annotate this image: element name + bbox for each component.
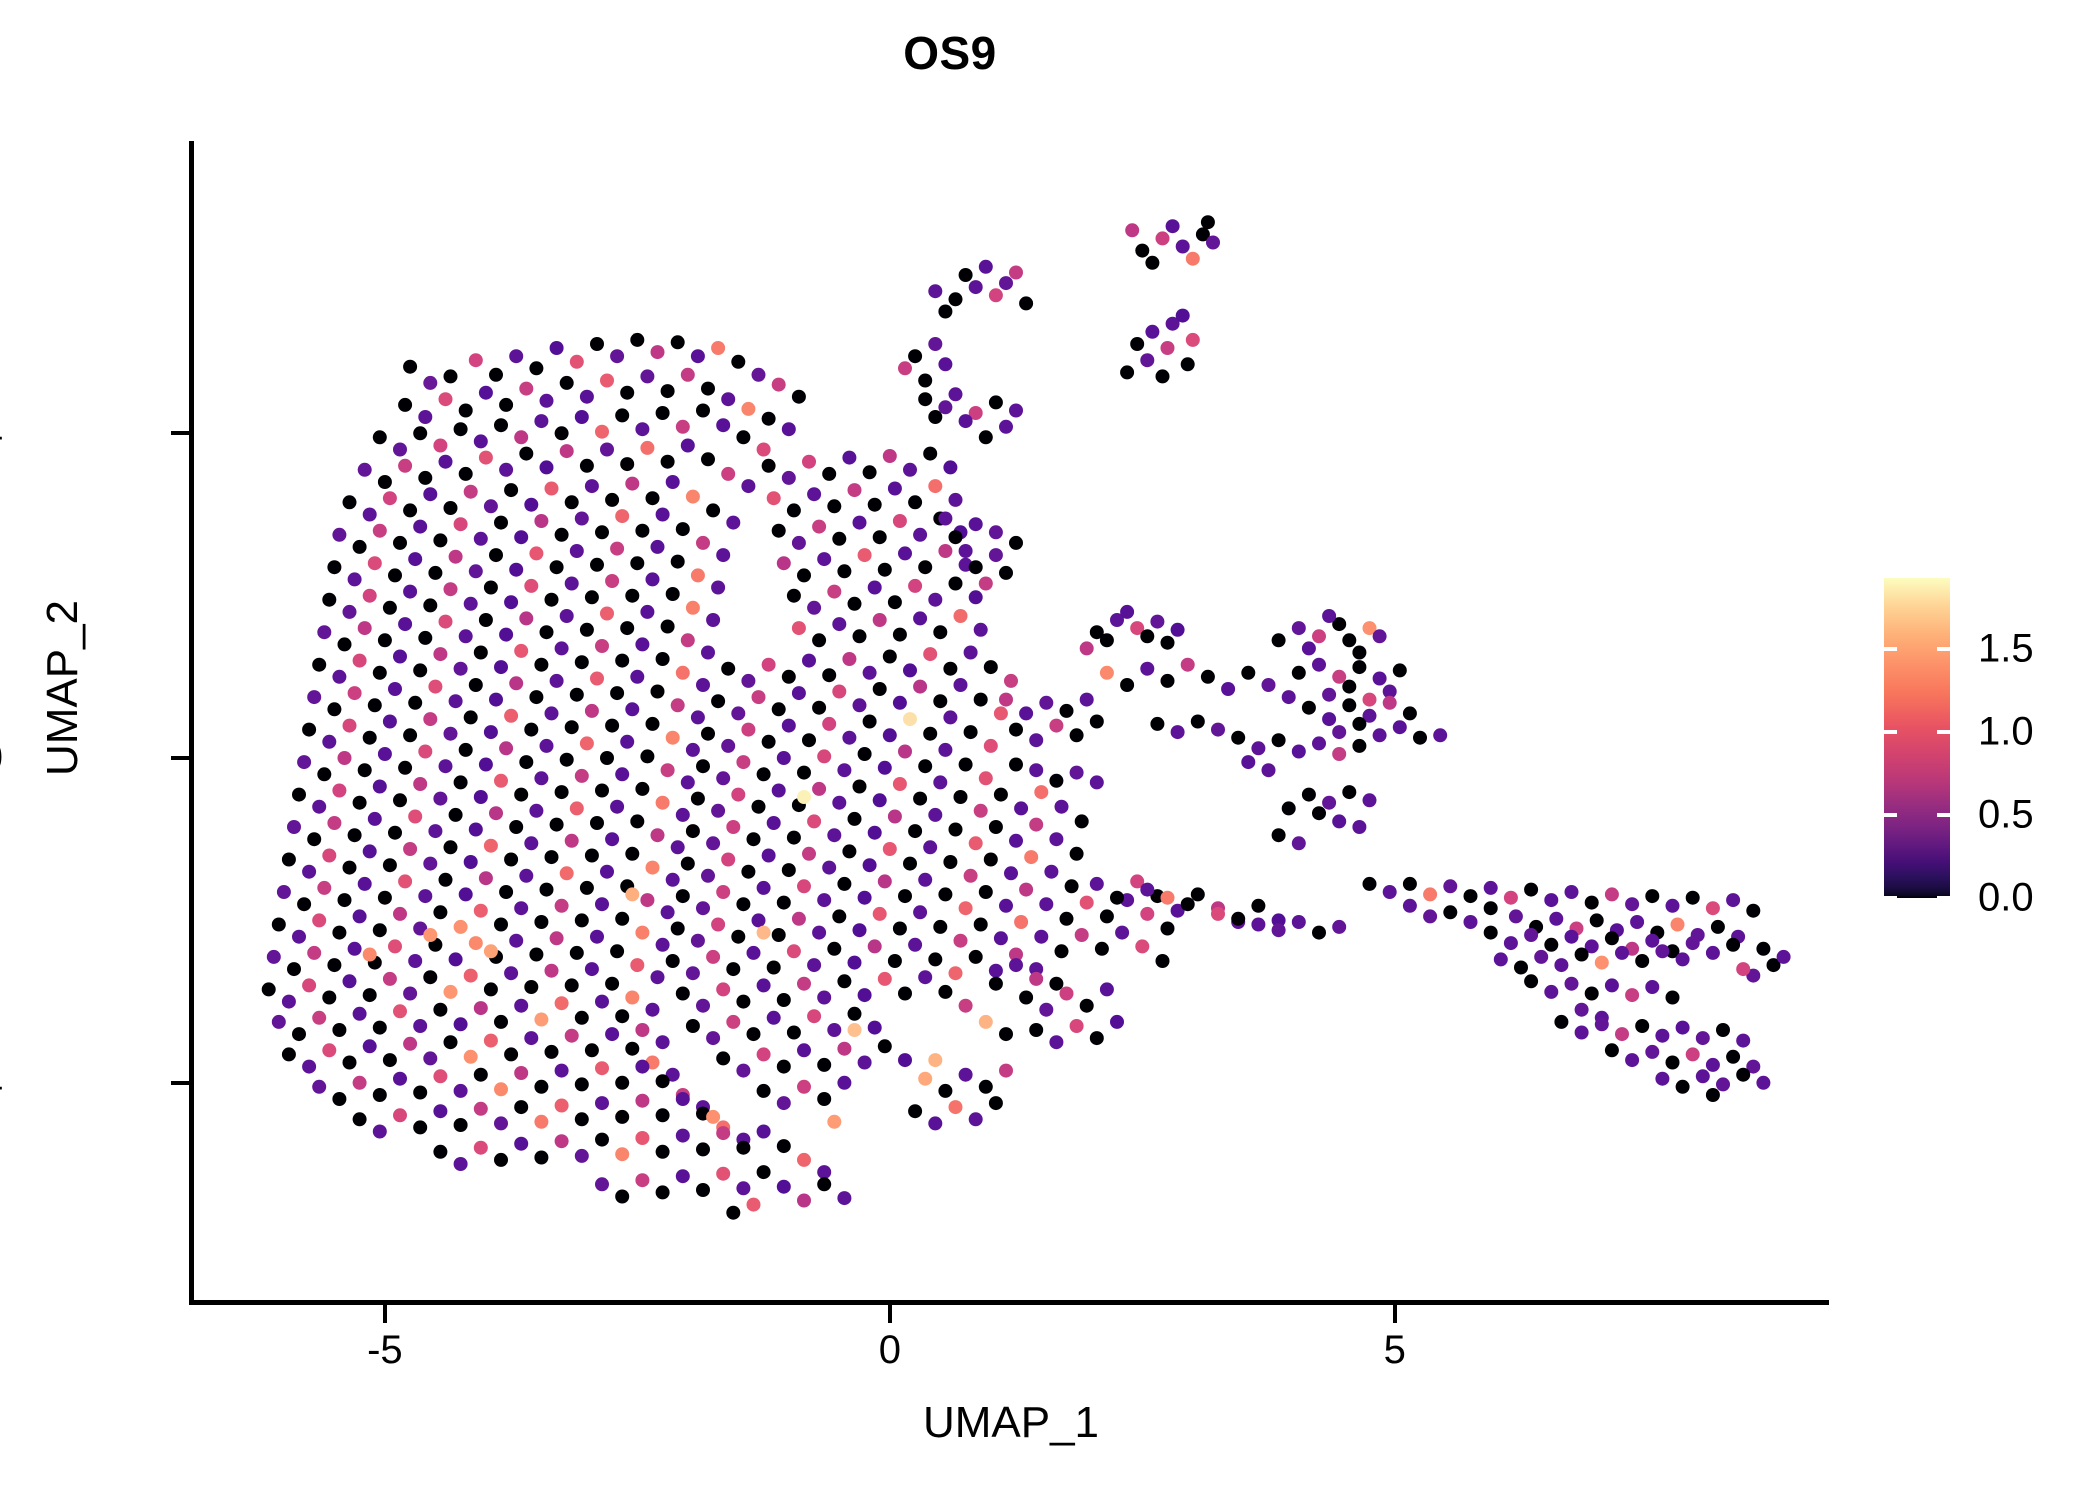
scatter-point — [656, 508, 670, 522]
scatter-point — [1514, 961, 1528, 975]
scatter-point — [464, 1050, 478, 1064]
scatter-point — [1039, 1003, 1053, 1017]
scatter-point — [1352, 739, 1366, 753]
scatter-point — [1009, 723, 1023, 737]
scatter-point — [1039, 696, 1053, 710]
scatter-point — [837, 1042, 851, 1056]
scatter-point — [560, 444, 574, 458]
scatter-point — [363, 844, 377, 858]
scatter-point — [297, 897, 311, 911]
scatter-point — [545, 706, 559, 720]
scatter-point — [1696, 1069, 1710, 1083]
scatter-point — [459, 743, 473, 757]
scatter-point — [514, 901, 528, 915]
scatter-point — [262, 982, 276, 996]
scatter-point — [711, 341, 725, 355]
scatter-point — [656, 938, 670, 952]
scatter-point — [772, 702, 786, 716]
scatter-point — [772, 524, 786, 538]
scatter-point — [827, 1023, 841, 1037]
scatter-point — [1140, 662, 1154, 676]
scatter-point — [1625, 1053, 1639, 1067]
scatter-point — [1363, 793, 1377, 807]
scatter-point — [747, 1027, 761, 1041]
scatter-point — [1494, 952, 1508, 966]
scatter-point — [777, 1180, 791, 1194]
scatter-point — [1524, 928, 1538, 942]
scatter-point — [878, 972, 892, 986]
scatter-point — [635, 637, 649, 651]
x-tick-label: 5 — [1384, 1328, 1406, 1373]
scatter-point — [595, 1177, 609, 1191]
scatter-point — [979, 260, 993, 274]
scatter-point — [484, 725, 498, 739]
scatter-point — [625, 589, 639, 603]
scatter-point — [433, 1104, 447, 1118]
scatter-point — [994, 788, 1008, 802]
scatter-point — [322, 1043, 336, 1057]
scatter-point — [1363, 877, 1377, 891]
y-tick-mark — [171, 431, 189, 435]
scatter-point — [1135, 244, 1149, 258]
scatter-point — [721, 739, 735, 753]
scatter-point — [317, 881, 331, 895]
y-tick-label: 4 — [0, 411, 3, 456]
scatter-point — [741, 479, 755, 493]
scatter-point — [1166, 219, 1180, 233]
scatter-point — [388, 939, 402, 953]
scatter-point — [928, 479, 942, 493]
scatter-point — [979, 430, 993, 444]
scatter-point — [969, 560, 983, 574]
scatter-point — [302, 723, 316, 737]
scatter-point — [848, 483, 862, 497]
scatter-point — [969, 590, 983, 604]
scatter-point — [706, 950, 720, 964]
scatter-point — [1312, 658, 1326, 672]
scatter-point — [721, 853, 735, 867]
scatter-point — [413, 777, 427, 791]
scatter-point — [272, 1015, 286, 1029]
scatter-point — [534, 414, 548, 428]
scatter-point — [701, 727, 715, 741]
scatter-point — [524, 1031, 538, 1045]
scatter-point — [1332, 814, 1346, 828]
scatter-point — [343, 605, 357, 619]
scatter-point — [555, 1099, 569, 1113]
scatter-point — [1443, 879, 1457, 893]
scatter-point — [721, 392, 735, 406]
scatter-point — [555, 1134, 569, 1148]
scatter-point — [1342, 680, 1356, 694]
scatter-point — [605, 719, 619, 733]
scatter-point — [1332, 920, 1346, 934]
scatter-point — [908, 1104, 922, 1118]
scatter-point — [928, 410, 942, 424]
scatter-point — [792, 686, 806, 700]
scatter-point — [348, 828, 362, 842]
scatter-point — [605, 493, 619, 507]
scatter-point — [938, 887, 952, 901]
scatter-point — [363, 948, 377, 962]
scatter-point — [979, 1015, 993, 1029]
scatter-point — [433, 439, 447, 453]
scatter-point — [959, 999, 973, 1013]
scatter-point — [1272, 633, 1286, 647]
scatter-point — [474, 904, 488, 918]
scatter-point — [509, 820, 523, 834]
colorbar-tick-label: 1.0 — [1978, 710, 2034, 755]
scatter-point — [1211, 723, 1225, 737]
scatter-point — [671, 922, 685, 936]
scatter-point — [615, 1076, 629, 1090]
scatter-point — [903, 857, 917, 871]
scatter-point — [353, 909, 367, 923]
scatter-point — [868, 581, 882, 595]
scatter-point — [343, 495, 357, 509]
scatter-point — [580, 390, 594, 404]
scatter-point — [989, 820, 1003, 834]
scatter-point — [959, 268, 973, 282]
scatter-point — [514, 1100, 528, 1114]
scatter-point — [807, 814, 821, 828]
scatter-point — [1090, 1031, 1104, 1045]
scatter-point — [464, 969, 478, 983]
colorbar-tick-label: 0.0 — [1978, 876, 2034, 921]
scatter-point — [398, 874, 412, 888]
scatter-point — [322, 991, 336, 1005]
scatter-point — [827, 828, 841, 842]
scatter-point — [1706, 1058, 1720, 1072]
scatter-point — [837, 974, 851, 988]
scatter-point — [827, 1115, 841, 1129]
scatter-point — [1009, 758, 1023, 772]
scatter-point — [575, 1011, 589, 1025]
scatter-point — [560, 753, 574, 767]
scatter-point — [938, 305, 952, 319]
scatter-point — [1231, 912, 1245, 926]
scatter-point — [1241, 666, 1255, 680]
scatter-point — [731, 788, 745, 802]
scatter-point — [1100, 909, 1114, 923]
scatter-point — [1373, 672, 1387, 686]
scatter-point — [534, 1013, 548, 1027]
scatter-point — [787, 503, 801, 517]
scatter-point — [898, 889, 912, 903]
scatter-point — [1666, 899, 1680, 913]
scatter-point — [373, 430, 387, 444]
scatter-point — [545, 1045, 559, 1059]
scatter-point — [439, 615, 453, 629]
scatter-point — [519, 447, 533, 461]
scatter-point — [1292, 836, 1306, 850]
scatter-point — [817, 1177, 831, 1191]
scatter-point — [943, 662, 957, 676]
scatter-point — [534, 915, 548, 929]
scatter-point — [403, 585, 417, 599]
scatter-point — [383, 491, 397, 505]
scatter-point — [555, 426, 569, 440]
scatter-point — [378, 633, 392, 647]
scatter-point — [519, 755, 533, 769]
scatter-point — [938, 1084, 952, 1098]
scatter-point — [595, 995, 609, 1009]
scatter-point — [741, 674, 755, 688]
scatter-point — [1060, 987, 1074, 1001]
scatter-point — [908, 938, 922, 952]
scatter-point — [726, 962, 740, 976]
scatter-point — [565, 834, 579, 848]
scatter-point — [312, 1080, 326, 1094]
scatter-point — [570, 946, 584, 960]
scatter-point — [1090, 877, 1104, 891]
scatter-point — [600, 607, 614, 621]
scatter-point — [439, 759, 453, 773]
scatter-point — [752, 800, 766, 814]
scatter-point — [590, 930, 604, 944]
scatter-point — [777, 556, 791, 570]
scatter-point — [1342, 633, 1356, 647]
scatter-point — [883, 650, 897, 664]
scatter-point — [615, 767, 629, 781]
scatter-point — [671, 555, 685, 569]
scatter-point — [772, 928, 786, 942]
scatter-point — [807, 1009, 821, 1023]
scatter-point — [1120, 365, 1134, 379]
scatter-point — [1777, 950, 1791, 964]
scatter-point — [388, 682, 402, 696]
scatter-point — [555, 528, 569, 542]
scatter-point — [1019, 991, 1033, 1005]
scatter-point — [625, 847, 639, 861]
scatter-point — [605, 977, 619, 991]
scatter-point — [600, 865, 614, 879]
scatter-point — [1484, 901, 1498, 915]
scatter-point — [656, 406, 670, 420]
scatter-point — [1075, 928, 1089, 942]
scatter-point — [439, 392, 453, 406]
scatter-point — [1544, 938, 1558, 952]
scatter-point — [1156, 231, 1170, 245]
scatter-point — [1312, 629, 1326, 643]
scatter-point — [1186, 333, 1200, 347]
scatter-point — [661, 905, 675, 919]
scatter-point — [1595, 956, 1609, 970]
scatter-point — [1029, 1023, 1043, 1037]
scatter-point — [332, 1092, 346, 1106]
scatter-point — [363, 988, 377, 1002]
scatter-point — [1029, 733, 1043, 747]
scatter-point — [1171, 623, 1185, 637]
scatter-point — [287, 962, 301, 976]
scatter-point — [575, 655, 589, 669]
scatter-point — [969, 950, 983, 964]
scatter-point — [933, 625, 947, 639]
scatter-point — [590, 337, 604, 351]
scatter-point — [540, 460, 554, 474]
scatter-point — [1524, 883, 1538, 897]
scatter-point — [1625, 988, 1639, 1002]
scatter-point — [994, 931, 1008, 945]
scatter-point — [353, 540, 367, 554]
scatter-point — [338, 751, 352, 765]
scatter-point — [353, 1076, 367, 1090]
scatter-point — [1464, 915, 1478, 929]
scatter-point — [585, 479, 599, 493]
scatter-point — [686, 1019, 700, 1033]
scatter-point — [1686, 891, 1700, 905]
scatter-point — [1635, 954, 1649, 968]
scatter-point — [863, 465, 877, 479]
scatter-point — [757, 1165, 771, 1179]
scatter-point — [696, 678, 710, 692]
scatter-point — [656, 1108, 670, 1122]
scatter-point — [757, 1047, 771, 1061]
scatter-point — [1135, 939, 1149, 953]
scatter-point — [565, 495, 579, 509]
scatter-point — [504, 966, 518, 980]
scatter-point — [802, 847, 816, 861]
scatter-point — [676, 666, 690, 680]
scatter-point — [656, 652, 670, 666]
scatter-point — [666, 475, 680, 489]
scatter-point — [681, 857, 695, 871]
scatter-point — [721, 662, 735, 676]
scatter-point — [1736, 1034, 1750, 1048]
scatter-point — [908, 579, 922, 593]
scatter-point — [863, 666, 877, 680]
scatter-point — [858, 891, 872, 905]
scatter-point — [403, 503, 417, 517]
scatter-point — [1049, 977, 1063, 991]
scatter-point — [989, 1096, 1003, 1110]
scatter-point — [479, 451, 493, 465]
scatter-point — [504, 595, 518, 609]
scatter-point — [777, 1060, 791, 1074]
scatter-point — [1201, 215, 1215, 229]
scatter-point — [625, 702, 639, 716]
scatter-point — [994, 706, 1008, 720]
scatter-point — [691, 710, 705, 724]
scatter-point — [484, 982, 498, 996]
scatter-point — [348, 572, 362, 586]
scatter-point — [1554, 1015, 1568, 1029]
scatter-point — [736, 995, 750, 1009]
scatter-point — [1049, 719, 1063, 733]
scatter-point — [787, 944, 801, 958]
scatter-point — [989, 548, 1003, 562]
scatter-point — [1019, 706, 1033, 720]
scatter-point — [726, 516, 740, 530]
scatter-point — [969, 517, 983, 531]
scatter-point — [858, 548, 872, 562]
colorbar-tick-mark — [1937, 813, 1950, 817]
scatter-point — [504, 1047, 518, 1061]
scatter-point — [499, 741, 513, 755]
scatter-point — [343, 974, 357, 988]
scatter-point — [736, 1181, 750, 1195]
scatter-point — [343, 861, 357, 875]
scatter-point — [605, 1027, 619, 1041]
scatter-point — [797, 1043, 811, 1057]
scatter-point — [989, 525, 1003, 539]
scatter-point — [595, 897, 609, 911]
scatter-point — [938, 743, 952, 757]
scatter-point — [1302, 788, 1316, 802]
scatter-point — [1590, 913, 1604, 927]
scatter-point — [332, 784, 346, 798]
scatter-point — [1292, 621, 1306, 635]
scatter-point — [1140, 907, 1154, 921]
scatter-point — [418, 745, 432, 759]
scatter-point — [327, 560, 341, 574]
scatter-point — [807, 487, 821, 501]
scatter-point — [757, 443, 771, 457]
scatter-point — [1080, 999, 1094, 1013]
scatter-point — [676, 987, 690, 1001]
scatter-point — [1191, 887, 1205, 901]
scatter-point — [1262, 678, 1276, 692]
scatter-point — [1080, 641, 1094, 655]
scatter-point — [1009, 266, 1023, 280]
scatter-point — [1150, 717, 1164, 731]
scatter-point — [1726, 938, 1740, 952]
scatter-point — [413, 663, 427, 677]
scatter-point — [1161, 674, 1175, 688]
scatter-point — [1176, 309, 1190, 323]
scatter-point — [474, 434, 488, 448]
scatter-point — [1060, 704, 1074, 718]
scatter-point — [681, 439, 695, 453]
scatter-point — [853, 780, 867, 794]
scatter-point — [625, 1042, 639, 1056]
scatter-point — [736, 1141, 750, 1155]
scatter-point — [348, 942, 362, 956]
scatter-point — [408, 552, 422, 566]
scatter-point — [1150, 615, 1164, 629]
scatter-point — [913, 792, 927, 806]
scatter-point — [403, 987, 417, 1001]
scatter-point — [514, 788, 528, 802]
scatter-point — [711, 581, 725, 595]
scatter-point — [873, 613, 887, 627]
scatter-point — [1423, 909, 1437, 923]
scatter-point — [736, 897, 750, 911]
scatter-point — [1666, 991, 1680, 1005]
scatter-point — [625, 887, 639, 901]
scatter-point — [605, 832, 619, 846]
scatter-point — [1161, 891, 1175, 905]
scatter-point — [701, 382, 715, 396]
scatter-point — [423, 487, 437, 501]
scatter-point — [474, 1001, 488, 1015]
scatter-point — [979, 771, 993, 785]
scatter-point — [514, 1066, 528, 1080]
scatter-point — [620, 386, 634, 400]
scatter-point — [1090, 775, 1104, 789]
scatter-point — [757, 1125, 771, 1139]
scatter-point — [888, 595, 902, 609]
scatter-point — [302, 978, 316, 992]
scatter-point — [797, 1080, 811, 1094]
scatter-point — [656, 796, 670, 810]
scatter-point — [762, 735, 776, 749]
scatter-point — [570, 355, 584, 369]
scatter-point — [1534, 950, 1548, 964]
scatter-point — [782, 670, 796, 684]
scatter-point — [949, 493, 963, 507]
scatter-point — [332, 1023, 346, 1037]
